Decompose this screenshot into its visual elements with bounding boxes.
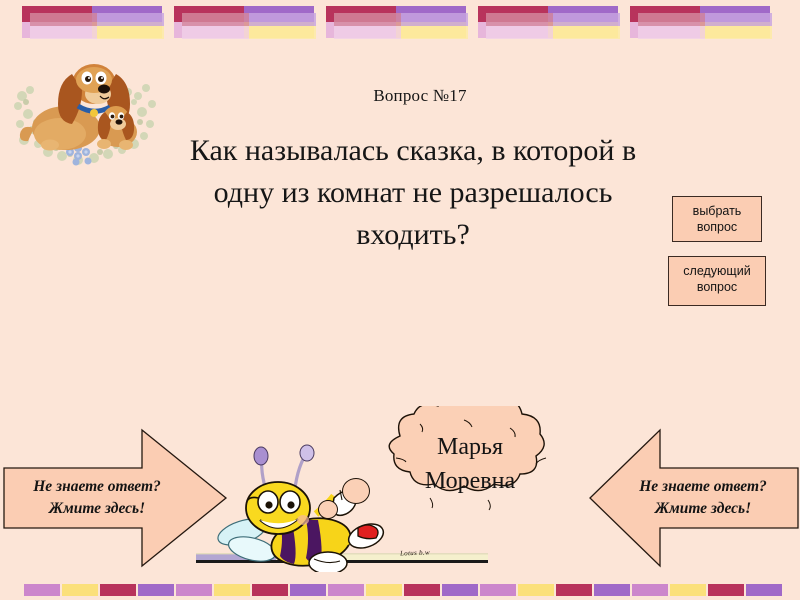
bottom-decorative-strip [0,584,800,596]
top-decor-overlay-quadrant [705,26,772,39]
bottom-decor-block [556,584,592,596]
bottom-decor-block [670,584,706,596]
top-decor-overlay-quadrant [638,13,705,26]
bottom-decor-block [746,584,782,596]
top-decor-overlay-quadrant [30,13,97,26]
top-decor-overlay-quadrant [334,13,401,26]
top-decor-overlay-quadrant [401,26,468,39]
top-decor-overlay-quadrant [30,26,97,39]
top-decor-block [478,6,618,38]
top-decor-overlay [486,13,620,39]
thought-bubble-dot-small [318,500,338,519]
answer-thought-bubble [360,406,580,516]
bottom-decor-block [404,584,440,596]
top-decor-block [22,6,162,38]
question-number: Вопрос №17 [240,86,600,106]
top-decor-overlay-quadrant [249,26,316,39]
bottom-decor-block [176,584,212,596]
select-question-label-line2: вопрос [673,219,761,235]
bottom-decor-block [366,584,402,596]
top-decor-block [326,6,466,38]
select-question-button[interactable]: выбрать вопрос [672,196,762,242]
bottom-decor-block [100,584,136,596]
right-hint-arrow[interactable] [588,428,800,568]
bottom-decor-block [518,584,554,596]
top-decor-overlay [334,13,468,39]
thought-bubble-dot-large [342,478,370,504]
top-decor-overlay [182,13,316,39]
bottom-decor-block [252,584,288,596]
bottom-decor-block [24,584,60,596]
bottom-decor-block [214,584,250,596]
bottom-decor-block [138,584,174,596]
select-question-label-line1: выбрать [673,203,761,219]
top-decor-overlay-quadrant [182,13,249,26]
slide-canvas: Вопрос №17 Как называлась сказка, в кото… [0,0,800,600]
question-text: Как называлась сказка, в которой в одну … [178,130,648,256]
dog-illustration [8,44,168,174]
top-decor-overlay-quadrant [334,26,401,39]
top-decor-overlay-quadrant [401,13,468,26]
top-decor-overlay-quadrant [97,13,164,26]
top-decor-overlay-quadrant [553,26,620,39]
bottom-decor-block [442,584,478,596]
bottom-decor-block [290,584,326,596]
top-decor-block [630,6,770,38]
bottom-decor-block [708,584,744,596]
bottom-decor-block [480,584,516,596]
top-decor-overlay-quadrant [638,26,705,39]
top-decor-overlay [30,13,164,39]
next-question-label-line1: следующий [669,263,765,279]
top-decor-overlay-quadrant [705,13,772,26]
top-decor-overlay-quadrant [182,26,249,39]
next-question-button[interactable]: следующий вопрос [668,256,766,306]
bottom-decor-block [328,584,364,596]
bottom-decor-block [62,584,98,596]
bottom-decor-block [632,584,668,596]
top-decor-overlay-quadrant [97,26,164,39]
top-decor-overlay-quadrant [486,26,553,39]
top-decor-overlay-quadrant [249,13,316,26]
top-decor-overlay [638,13,772,39]
next-question-label-line2: вопрос [669,279,765,295]
bottom-decor-block [594,584,630,596]
top-decor-overlay-quadrant [553,13,620,26]
left-hint-arrow[interactable] [2,428,228,568]
top-decor-overlay-quadrant [486,13,553,26]
top-decor-block [174,6,314,38]
top-decorative-strip [0,0,800,44]
